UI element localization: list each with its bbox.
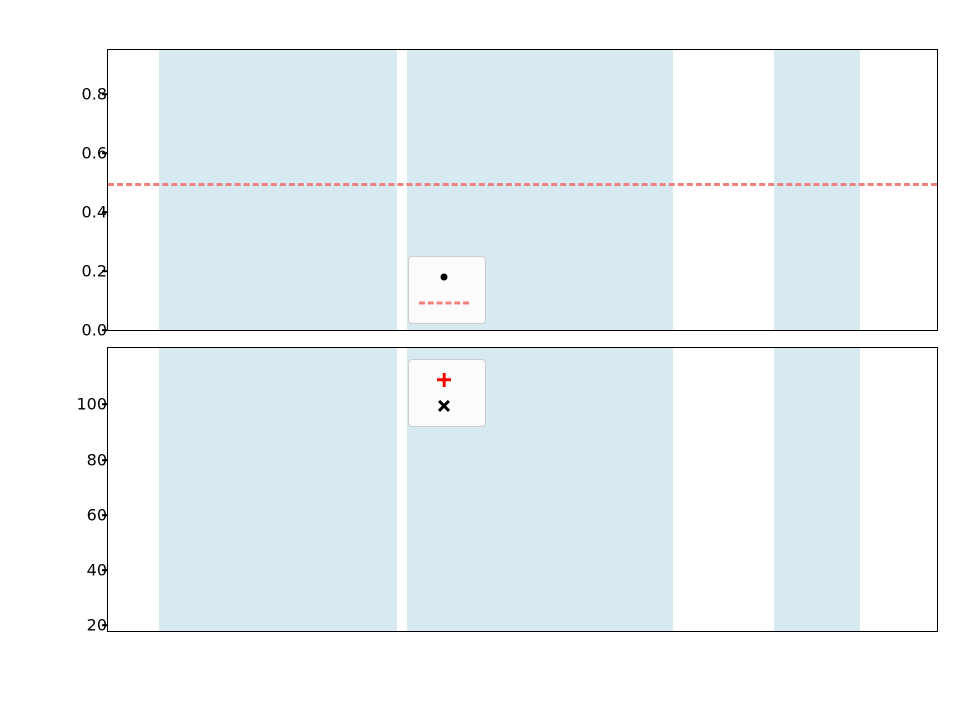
top-panel-legend: [408, 256, 486, 324]
plus-marker-icon: [417, 370, 471, 390]
cross-marker-icon: [417, 396, 471, 416]
matplotlib-figure: 0.0 0.2 0.4 0.6 0.8 20 40 60 80 100: [0, 0, 960, 720]
legend-entry-matched: [417, 367, 475, 393]
bottom-panel-yaxis: 20 40 60 80 100: [0, 0, 107, 720]
ytick-label-bot-1: 40: [49, 561, 107, 580]
shaded-band-3: [774, 348, 860, 631]
shaded-band-1: [159, 50, 397, 330]
top-panel-axes: [107, 49, 938, 331]
ytick-label-bot-2: 60: [49, 506, 107, 525]
ytick-label-top-3: 0.6: [49, 144, 107, 163]
ytick-label-bot-4: 100: [49, 395, 107, 414]
ytick-label-top-1: 0.2: [49, 262, 107, 281]
legend-entry-threshold: [417, 290, 475, 316]
threshold-line: [108, 183, 937, 186]
ytick-label-top-4: 0.8: [49, 85, 107, 104]
ytick-label-top-2: 0.4: [49, 203, 107, 222]
dashed-line-icon: [417, 293, 471, 313]
ytick-label-bot-3: 80: [49, 451, 107, 470]
bottom-panel-axes: [107, 347, 938, 632]
ytick-label-top-0: 0.0: [49, 321, 107, 340]
bottom-panel-legend: [408, 359, 486, 427]
legend-entry-predicted: [417, 393, 475, 419]
top-panel-yaxis: 0.0 0.2 0.4 0.6 0.8: [0, 0, 107, 720]
legend-entry-measurements: [417, 264, 475, 290]
dot-marker-icon: [417, 267, 471, 287]
shaded-band-3: [774, 50, 860, 330]
ytick-label-bot-0: 20: [49, 616, 107, 635]
shaded-band-1: [159, 348, 397, 631]
